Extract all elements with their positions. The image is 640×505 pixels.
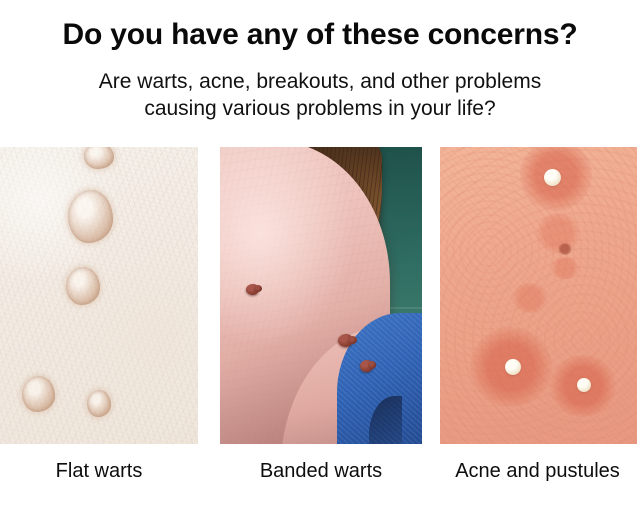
pustule [505,359,521,375]
banded-wart-lesion [338,334,353,347]
subtitle-line-1: Are warts, acne, breakouts, and other pr… [0,68,640,95]
pustule [577,378,591,392]
subtitle-line-2: causing various problems in your life? [0,95,640,122]
wart-lesion [66,267,100,305]
caption-banded-warts: Banded warts [220,458,422,484]
red-blotch [550,257,580,279]
caption-flat-warts: Flat warts [0,458,198,484]
image-acne-pustules [440,147,637,444]
wart-lesion [87,390,111,417]
red-blotch [512,283,548,313]
wart-lesion [22,376,55,412]
image-panel-row [0,147,640,444]
photo-scene-neck [220,147,422,444]
page-title: Do you have any of these concerns? [0,17,640,53]
image-banded-warts [220,147,422,444]
red-blotch [558,243,572,255]
banded-wart-lesion [360,360,373,372]
wart-lesion [68,190,113,243]
pustule [544,169,561,186]
image-flat-warts [0,147,198,444]
banded-wart-lesion [246,284,259,295]
shirt-shadow [369,396,402,444]
caption-acne-pustules: Acne and pustules [438,458,637,484]
subtitle: Are warts, acne, breakouts, and other pr… [0,68,640,122]
